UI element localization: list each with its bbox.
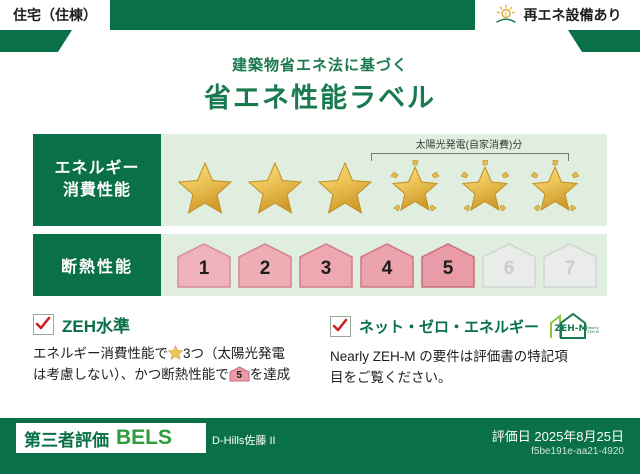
- building-name: D-Hills佐藤 II: [212, 432, 276, 448]
- label-subtitle: 建築物省エネ法に基づく: [0, 54, 640, 75]
- insulation-badge-num: 6: [504, 258, 515, 289]
- zeh-body-part1: エネルギー消費性能で: [33, 346, 168, 361]
- zeh-standard-block: ZEH水準 エネルギー消費性能で3つ（太陽光発電 は考慮しない）、かつ断熱性能で…: [33, 312, 318, 386]
- star-item: [239, 156, 309, 222]
- gold-star-with-rays-icon: [387, 160, 443, 216]
- gold-star-icon: [317, 160, 373, 216]
- insulation-badge-1: 1: [175, 241, 233, 289]
- insulation-badge-num: 3: [321, 258, 332, 289]
- gold-star-icon: [168, 345, 183, 360]
- star-item-solar: [379, 156, 449, 222]
- insulation-badge-7: 7: [541, 241, 599, 289]
- star-rating: [161, 156, 607, 222]
- energy-consumption-value: 太陽光発電(自家消費)分: [161, 134, 607, 226]
- star-item-solar: [449, 156, 519, 222]
- zeh-standard-body: エネルギー消費性能で3つ（太陽光発電 は考慮しない）、かつ断熱性能で5を達成: [33, 344, 318, 386]
- energy-consumption-key: エネルギー 消費性能: [33, 134, 161, 226]
- insulation-badge-num: 4: [382, 258, 393, 289]
- svg-text:E: E: [504, 12, 507, 18]
- insulation-row: 断熱性能 1 2 3: [33, 234, 607, 296]
- zeh-standard-checkbox: [33, 314, 54, 335]
- inline-insulation-badge: 5: [229, 366, 250, 382]
- red-check-icon: [332, 318, 348, 334]
- star-item-solar: [519, 156, 589, 222]
- insulation-badge-3: 3: [297, 241, 355, 289]
- energy-consumption-row: エネルギー 消費性能 太陽光発電(自家消費)分: [33, 134, 607, 226]
- label-title: 省エネ性能ラベル: [0, 76, 640, 115]
- zeh-body-part2: 3つ（太陽光発電: [183, 346, 285, 361]
- evaluation-id: f5be191e-aa21-4920: [531, 446, 624, 457]
- gold-star-with-rays-icon: [527, 160, 583, 216]
- energy-key-line2: 消費性能: [63, 180, 131, 202]
- star-item: [169, 156, 239, 222]
- housing-type-tag: 住宅（住棟）: [0, 0, 110, 30]
- energy-performance-label: 住宅（住棟） E 再エネ設備あり 建築物省エネ法に基づく 省エネ性能ラベル エネ…: [0, 0, 640, 474]
- insulation-badges: 1 2 3 4: [161, 234, 607, 296]
- star-item: [309, 156, 379, 222]
- insulation-badge-5: 5: [419, 241, 477, 289]
- net-zero-energy-title: ネット・ゼロ・エネルギー: [359, 316, 539, 337]
- insulation-badge-num: 1: [199, 258, 210, 289]
- sun-solar-icon: E: [494, 4, 518, 26]
- net-zero-energy-block: ネット・ゼロ・エネルギー ZEH-M Nearly ZEH-M Nearly Z…: [330, 312, 615, 389]
- bels-en-label: BELS: [116, 426, 172, 450]
- insulation-badge-num: 2: [260, 258, 271, 289]
- energy-key-line1: エネルギー: [54, 158, 139, 180]
- net-zero-energy-body: Nearly ZEH-M の要件は評価書の特記項 目をご覧ください。: [330, 347, 615, 389]
- net-zero-body-line2: 目をご覧ください。: [330, 370, 452, 385]
- insulation-badge-num: 5: [443, 258, 454, 289]
- svg-text:ZEH-M: ZEH-M: [555, 324, 588, 334]
- insulation-key: 断熱性能: [33, 234, 161, 296]
- bels-jp-label: 第三者評価: [24, 426, 109, 451]
- footer-bar: 第三者評価 BELS D-Hills佐藤 II 評価日 2025年8月25日 f…: [0, 418, 640, 474]
- evaluation-date: 評価日 2025年8月25日: [492, 426, 624, 445]
- net-zero-body-line1: Nearly ZEH-M の要件は評価書の特記項: [330, 349, 568, 364]
- gold-star-icon: [247, 160, 303, 216]
- zeh-body-part3: は考慮しない）、かつ断熱性能で: [33, 367, 229, 382]
- inline-badge-num: 5: [229, 368, 250, 384]
- insulation-badge-num: 7: [565, 258, 576, 289]
- zeh-standard-header: ZEH水準: [33, 312, 318, 337]
- bels-plate: 第三者評価 BELS: [16, 423, 206, 453]
- insulation-badge-6: 6: [480, 241, 538, 289]
- zeh-standard-title: ZEH水準: [62, 312, 130, 337]
- gold-star-with-rays-icon: [457, 160, 513, 216]
- red-check-icon: [35, 316, 51, 332]
- housing-type-label: 住宅（住棟）: [13, 5, 97, 25]
- insulation-badge-2: 2: [236, 241, 294, 289]
- zeh-body-part4: を達成: [250, 367, 291, 382]
- gold-star-icon: [177, 160, 233, 216]
- solar-bracket-label: 太陽光発電(自家消費)分: [361, 136, 577, 151]
- net-zero-energy-checkbox: [330, 316, 351, 337]
- svg-text:ZEH-M: ZEH-M: [587, 330, 599, 334]
- insulation-badge-4: 4: [358, 241, 416, 289]
- renewable-equipment-label: 再エネ設備あり: [524, 5, 622, 25]
- renewable-equipment-tag: E 再エネ設備あり: [475, 0, 640, 30]
- zeh-m-house-logo: ZEH-M Nearly ZEH-M: [547, 312, 601, 340]
- net-zero-energy-header: ネット・ゼロ・エネルギー ZEH-M Nearly ZEH-M: [330, 312, 615, 340]
